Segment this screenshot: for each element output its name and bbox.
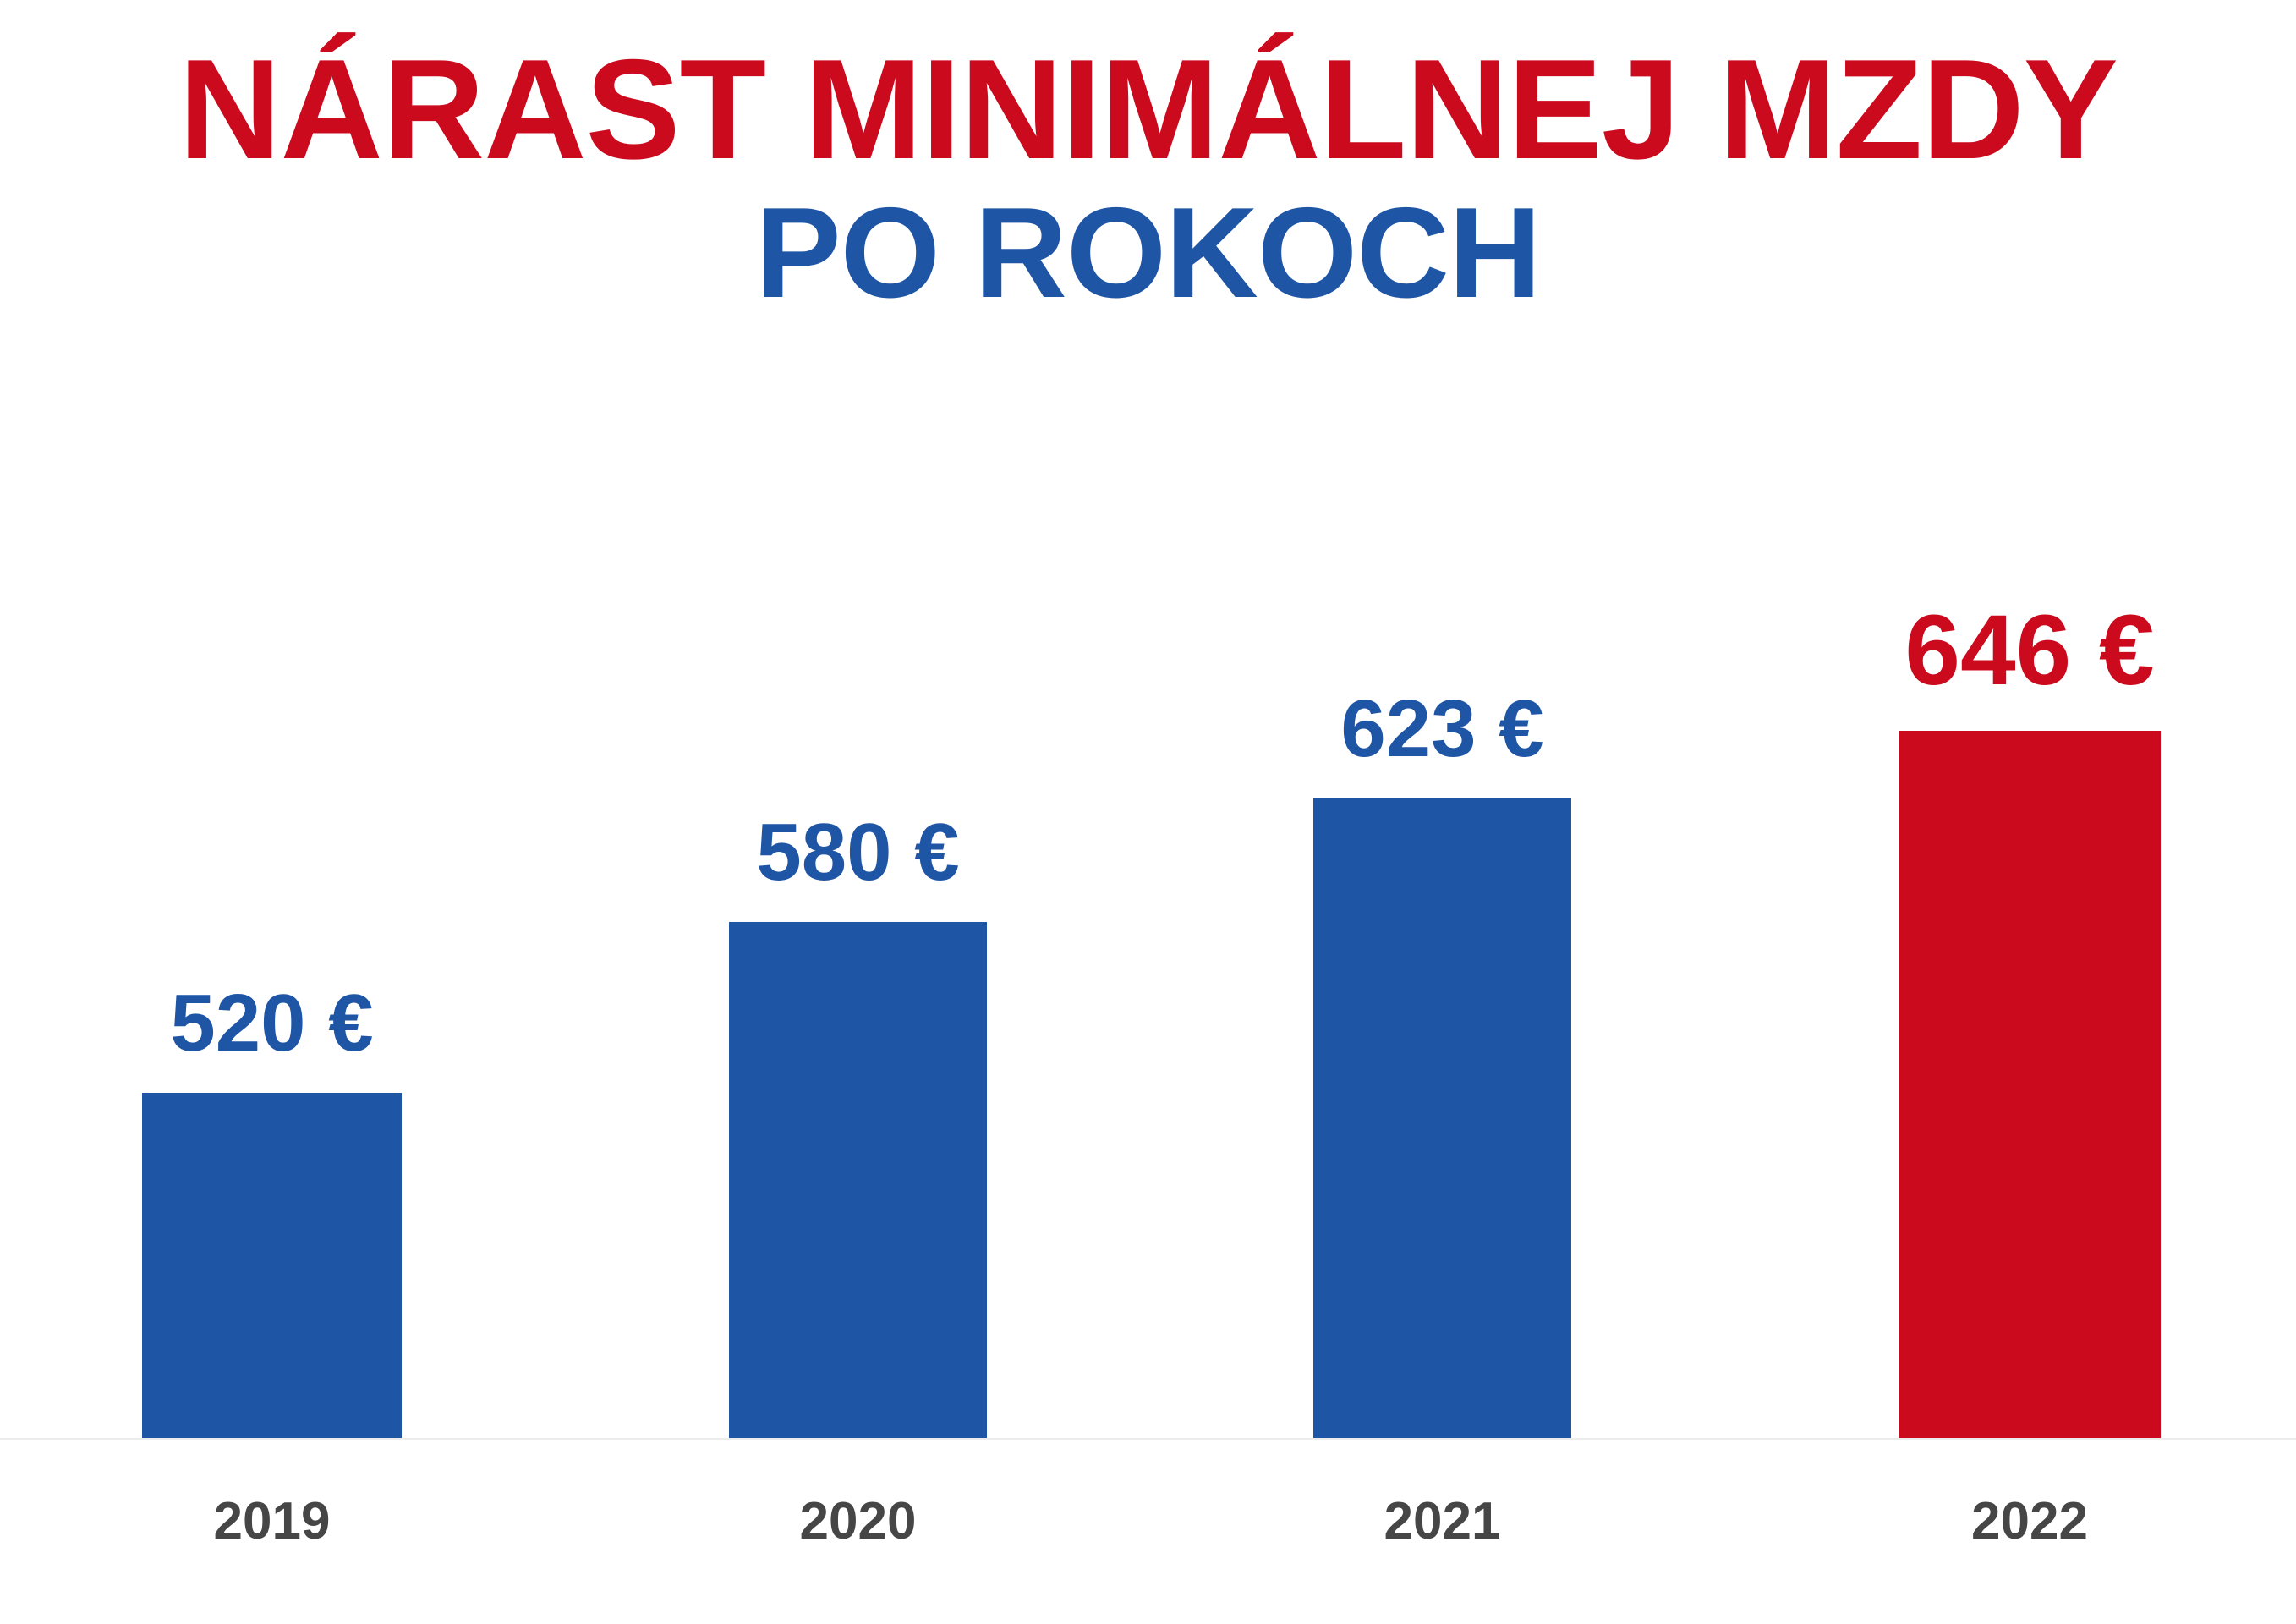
- bar-2020[interactable]: [729, 922, 987, 1438]
- category-label-2020: 2020: [800, 1495, 917, 1548]
- bar-group-2020: 580 € 2020: [729, 0, 987, 1624]
- bar-value-label-2019: 520 €: [170, 983, 373, 1064]
- category-label-2021: 2021: [1384, 1495, 1501, 1548]
- bar-value-label-2022: 646 €: [1904, 601, 2154, 700]
- bar-value-label-2021: 623 €: [1340, 689, 1543, 770]
- bar-group-2022: 646 € 2022: [1899, 0, 2161, 1624]
- bar-2021[interactable]: [1313, 798, 1571, 1438]
- bar-group-2021: 623 € 2021: [1313, 0, 1571, 1624]
- category-label-2019: 2019: [214, 1495, 331, 1548]
- category-label-2022: 2022: [1971, 1495, 2088, 1548]
- chart-canvas: NÁRAST MINIMÁLNEJ MZDY PO ROKOCH 520 € 2…: [0, 0, 2296, 1624]
- plot-area: 520 € 2019 580 € 2020 623 € 2021 646 € 2…: [0, 0, 2296, 1624]
- bar-value-label-2020: 580 €: [756, 812, 959, 893]
- bar-2019[interactable]: [142, 1093, 402, 1438]
- bar-2022[interactable]: [1899, 731, 2161, 1438]
- bar-group-2019: 520 € 2019: [142, 0, 402, 1624]
